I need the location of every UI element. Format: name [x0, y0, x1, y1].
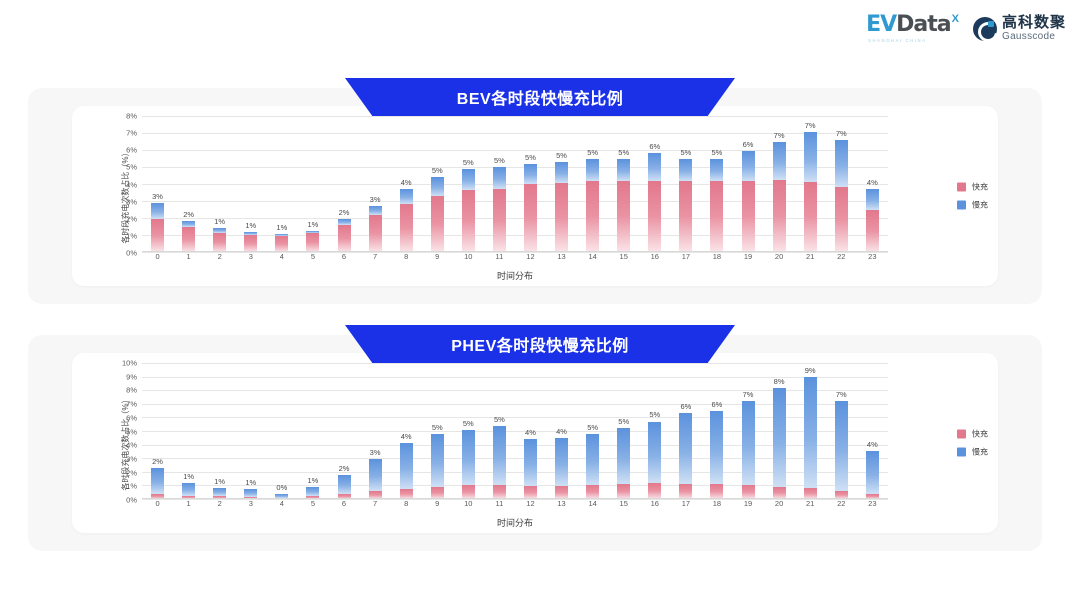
chart-1-bar-column[interactable]: 5% [670, 116, 701, 252]
chart-1-bar-value-label: 4% [867, 178, 878, 187]
chart-1-card: 各时段充电次数占比（%） 0%1%2%3%4%5%6%7%8% 3%2%1%1%… [72, 106, 998, 286]
chart-1-segment-slow-charge[interactable] [835, 140, 848, 187]
chart-1-stacked-bar[interactable]: 3% [369, 206, 382, 252]
chart-1-y-tick: 3% [126, 197, 137, 206]
chart-1-bar-value-label: 5% [463, 158, 474, 167]
chart-1-segment-slow-charge[interactable] [493, 167, 506, 189]
chart-1-stacked-bar[interactable]: 5% [586, 159, 599, 252]
chart-2-stacked-bar[interactable]: 1% [182, 483, 195, 499]
chart-1-bar-value-label: 5% [525, 153, 536, 162]
chart-2-stacked-bar[interactable]: 4% [524, 439, 537, 499]
chart-1-bar-value-label: 3% [152, 192, 163, 201]
chart-1-y-tick: 1% [126, 231, 137, 240]
chart-2: 各时段充电次数占比（%） 0%1%2%3%4%5%6%7%8%9%10% 2%1… [72, 353, 998, 533]
chart-2-stacked-bar[interactable]: 7% [742, 401, 755, 499]
chart-1-x-tick: 3 [235, 252, 266, 264]
chart-1-bar-value-label: 2% [339, 208, 350, 217]
chart-2-bar-column[interactable]: 1% [297, 363, 328, 499]
chart-2-stacked-bar[interactable]: 5% [648, 421, 661, 499]
chart-1-segment-slow-charge[interactable] [773, 142, 786, 180]
chart-2-segment-slow-charge[interactable] [338, 475, 351, 494]
chart-2-bar-column[interactable]: 1% [235, 363, 266, 499]
chart-1-segment-slow-charge[interactable] [679, 159, 692, 181]
chart-2-legend-label: 快充 [972, 429, 988, 440]
chart-2-y-tick: 7% [126, 400, 137, 409]
chart-2-x-tick: 16 [639, 499, 670, 511]
chart-2-legend-item[interactable]: 快充 [957, 429, 988, 440]
chart-1-segment-fast-charge[interactable] [275, 236, 288, 252]
chart-1-x-tick: 8 [391, 252, 422, 264]
chart-2-y-tick: 5% [126, 427, 137, 436]
chart-1-segment-fast-charge[interactable] [835, 187, 848, 252]
chart-2-y-tick: 3% [126, 454, 137, 463]
chart-1-bar-value-label: 1% [245, 221, 256, 230]
chart-2-segment-slow-charge[interactable] [244, 489, 257, 497]
chart-2-bar-value-label: 4% [556, 427, 567, 436]
chart-1-segment-fast-charge[interactable] [648, 181, 661, 252]
chart-1-bar-column[interactable]: 5% [484, 116, 515, 252]
chart-1-stacked-bar[interactable]: 5% [710, 159, 723, 253]
chart-1-bar-column[interactable]: 6% [639, 116, 670, 252]
chart-1-bar-column[interactable]: 3% [360, 116, 391, 252]
evdata-logo-row: EVData X [866, 14, 959, 36]
chart-2-title-banner: PHEV各时段快慢充比例 [345, 325, 735, 363]
chart-2-bar-value-label: 2% [339, 464, 350, 473]
chart-1-bar-value-label: 7% [836, 129, 847, 138]
chart-2-bar-column[interactable]: 1% [173, 363, 204, 499]
chart-1-bar-column[interactable]: 3% [142, 116, 173, 252]
chart-2-bar-value-label: 1% [245, 478, 256, 487]
chart-2-x-tick: 11 [484, 499, 515, 511]
chart-2-x-tick: 19 [732, 499, 763, 511]
chart-1-x-tick: 19 [732, 252, 763, 264]
chart-1-bar-value-label: 6% [649, 142, 660, 151]
chart-2-segment-slow-charge[interactable] [524, 439, 537, 486]
chart-2-segment-slow-charge[interactable] [586, 434, 599, 486]
gausscode-logo: 高科数聚 Gausscode [973, 15, 1066, 42]
chart-2-bar-value-label: 1% [214, 477, 225, 486]
chart-1-x-tick: 15 [608, 252, 639, 264]
chart-1-bar-value-label: 1% [214, 217, 225, 226]
chart-1-segment-fast-charge[interactable] [866, 210, 879, 252]
chart-2-bar-column[interactable]: 5% [453, 363, 484, 499]
chart-2-bars: 2%1%1%1%0%1%2%3%4%5%5%5%4%4%5%5%5%6%6%7%… [142, 363, 888, 499]
chart-1-segment-fast-charge[interactable] [338, 225, 351, 252]
chart-1-segment-slow-charge[interactable] [400, 189, 413, 203]
chart-2-segment-fast-charge[interactable] [617, 484, 630, 499]
chart-1-y-tick: 8% [126, 112, 137, 121]
chart-2-y-tick: 2% [126, 468, 137, 477]
chart-2-x-axis-title: 时间分布 [142, 516, 888, 529]
chart-1-stacked-bar[interactable]: 2% [182, 221, 195, 252]
chart-2-stacked-bar[interactable]: 9% [804, 377, 817, 499]
chart-2-y-tick: 8% [126, 386, 137, 395]
chart-2-stacked-bar[interactable]: 5% [431, 434, 444, 499]
chart-2-bar-value-label: 4% [525, 428, 536, 437]
chart-1-y-tick: 2% [126, 214, 137, 223]
gausscode-name-cn: 高科数聚 [1002, 15, 1066, 30]
chart-1-x-tick: 0 [142, 252, 173, 264]
chart-1-segment-slow-charge[interactable] [369, 206, 382, 215]
chart-2-stacked-bar[interactable]: 4% [555, 438, 568, 499]
chart-2-x-tick: 2 [204, 499, 235, 511]
chart-2-x-tick: 21 [795, 499, 826, 511]
evdata-x-icon: X [952, 14, 959, 24]
chart-2-segment-slow-charge[interactable] [866, 451, 879, 495]
page-header: EVData X SHANGHAI CHINA 高科数聚 Gausscode [0, 0, 1080, 62]
chart-1-bar-column[interactable]: 1% [204, 116, 235, 252]
chart-1-stacked-bar[interactable]: 5% [493, 167, 506, 252]
slide-page: EVData X SHANGHAI CHINA 高科数聚 Gausscode B… [0, 0, 1080, 608]
chart-1-panel: 各时段充电次数占比（%） 0%1%2%3%4%5%6%7%8% 3%2%1%1%… [28, 88, 1042, 304]
chart-1-segment-fast-charge[interactable] [306, 233, 319, 252]
chart-1-y-tick: 5% [126, 163, 137, 172]
chart-1-segment-fast-charge[interactable] [462, 190, 475, 252]
chart-1-legend-label: 快充 [972, 182, 988, 193]
chart-1-segment-fast-charge[interactable] [182, 227, 195, 252]
chart-1-stacked-bar[interactable]: 7% [773, 142, 786, 253]
chart-1-bar-column[interactable]: 6% [732, 116, 763, 252]
chart-1-x-tick: 20 [764, 252, 795, 264]
chart-1-x-tick: 17 [670, 252, 701, 264]
chart-1-segment-fast-charge[interactable] [773, 180, 786, 252]
chart-1-bar-column[interactable]: 5% [608, 116, 639, 252]
chart-2-bar-value-label: 0% [276, 483, 287, 492]
chart-2-bar-column[interactable]: 5% [422, 363, 453, 499]
chart-1-segment-slow-charge[interactable] [648, 153, 661, 180]
chart-1-bar-value-label: 5% [556, 151, 567, 160]
chart-1-stacked-bar[interactable]: 5% [431, 177, 444, 252]
chart-2-x-tick: 17 [670, 499, 701, 511]
chart-1-segment-fast-charge[interactable] [244, 235, 257, 252]
chart-1-x-tick: 13 [546, 252, 577, 264]
chart-2-stacked-bar[interactable]: 5% [493, 426, 506, 499]
chart-2-bar-value-label: 1% [308, 476, 319, 485]
chart-2-segment-slow-charge[interactable] [182, 483, 195, 496]
chart-1-bar-column[interactable]: 5% [701, 116, 732, 252]
chart-1-x-tick: 9 [422, 252, 453, 264]
chart-1-segment-fast-charge[interactable] [400, 204, 413, 252]
chart-1-stacked-bar[interactable]: 6% [742, 151, 755, 252]
chart-1-stacked-bar[interactable]: 7% [835, 140, 848, 252]
legend-swatch-icon [957, 430, 966, 439]
chart-1-segment-fast-charge[interactable] [524, 184, 537, 252]
chart-2-bar-value-label: 1% [183, 472, 194, 481]
chart-2-bar-value-label: 5% [432, 423, 443, 432]
chart-2-x-tick: 7 [360, 499, 391, 511]
chart-1-bar-value-label: 5% [587, 148, 598, 157]
chart-2-stacked-bar[interactable]: 5% [617, 428, 630, 499]
chart-2-legend-label: 慢充 [972, 447, 988, 458]
chart-1-segment-fast-charge[interactable] [369, 215, 382, 252]
chart-2-x-axis-ticks: 01234567891011121314151617181920212223 [142, 499, 888, 511]
chart-1-y-tick: 7% [126, 129, 137, 138]
chart-2-stacked-bar[interactable]: 4% [400, 443, 413, 499]
chart-1-bar-value-label: 6% [743, 140, 754, 149]
chart-2-segment-slow-charge[interactable] [306, 487, 319, 496]
chart-1-bar-column[interactable]: 1% [266, 116, 297, 252]
chart-2-y-tick: 0% [126, 496, 137, 505]
chart-2-stacked-bar[interactable]: 6% [679, 413, 692, 499]
chart-1-segment-slow-charge[interactable] [710, 159, 723, 181]
legend-swatch-icon [957, 201, 966, 210]
chart-1-bar-column[interactable]: 5% [577, 116, 608, 252]
chart-1-segment-slow-charge[interactable] [555, 162, 568, 183]
chart-1-title-banner: BEV各时段快慢充比例 [345, 78, 735, 116]
chart-2-panel: 各时段充电次数占比（%） 0%1%2%3%4%5%6%7%8%9%10% 2%1… [28, 335, 1042, 551]
chart-1-legend-item[interactable]: 慢充 [957, 200, 988, 211]
chart-2-segment-slow-charge[interactable] [493, 426, 506, 485]
chart-1-bar-value-label: 5% [618, 148, 629, 157]
chart-2-segment-fast-charge[interactable] [710, 484, 723, 499]
chart-1-segment-fast-charge[interactable] [804, 182, 817, 252]
evdata-logo: EVData X SHANGHAI CHINA [866, 14, 959, 43]
chart-1-y-tick: 4% [126, 180, 137, 189]
chart-2-stacked-bar[interactable]: 7% [835, 401, 848, 499]
chart-2-segment-fast-charge[interactable] [648, 483, 661, 499]
chart-2-bar-column[interactable]: 5% [608, 363, 639, 499]
chart-1-bar-value-label: 5% [494, 156, 505, 165]
chart-2-segment-slow-charge[interactable] [710, 411, 723, 484]
legend-swatch-icon [957, 183, 966, 192]
chart-1-bar-value-label: 5% [680, 148, 691, 157]
chart-1-x-tick: 14 [577, 252, 608, 264]
chart-2-bar-value-label: 5% [463, 419, 474, 428]
evdata-wordmark-prefix: EV [866, 12, 896, 37]
chart-1-stacked-bar[interactable]: 5% [555, 162, 568, 252]
chart-2-x-tick: 4 [266, 499, 297, 511]
chart-1-stacked-bar[interactable]: 5% [462, 169, 475, 252]
chart-1-bar-column[interactable]: 7% [826, 116, 857, 252]
chart-1-bar-column[interactable]: 2% [328, 116, 359, 252]
chart-1-y-tick: 0% [126, 249, 137, 258]
chart-2-bar-column[interactable]: 9% [795, 363, 826, 499]
chart-1-stacked-bar[interactable]: 7% [804, 132, 817, 252]
chart-2-bar-value-label: 4% [867, 440, 878, 449]
chart-1-stacked-bar[interactable]: 1% [275, 234, 288, 252]
chart-2-bar-column[interactable]: 7% [732, 363, 763, 499]
chart-2-bar-value-label: 8% [774, 377, 785, 386]
chart-2-segment-slow-charge[interactable] [742, 401, 755, 485]
chart-2-stacked-bar[interactable]: 5% [462, 430, 475, 499]
evdata-wordmark: EVData [866, 14, 951, 36]
chart-2-bar-column[interactable]: 4% [857, 363, 888, 499]
chart-1-segment-slow-charge[interactable] [151, 203, 164, 219]
chart-1-x-tick: 16 [639, 252, 670, 264]
chart-1-bar-value-label: 4% [401, 178, 412, 187]
chart-1-segment-slow-charge[interactable] [462, 169, 475, 190]
chart-2-x-tick: 23 [857, 499, 888, 511]
chart-1-segment-slow-charge[interactable] [866, 189, 879, 210]
chart-2-x-tick: 10 [453, 499, 484, 511]
chart-2-segment-slow-charge[interactable] [213, 488, 226, 496]
chart-1-bar-column[interactable]: 4% [391, 116, 422, 252]
chart-2-x-tick: 6 [328, 499, 359, 511]
chart-2-bar-column[interactable]: 4% [391, 363, 422, 499]
chart-2-bar-column[interactable]: 5% [639, 363, 670, 499]
chart-2-stacked-bar[interactable]: 2% [151, 468, 164, 499]
chart-1-segment-slow-charge[interactable] [742, 151, 755, 181]
chart-1-segment-slow-charge[interactable] [431, 177, 444, 196]
chart-1-bar-column[interactable]: 4% [857, 116, 888, 252]
chart-1-segment-fast-charge[interactable] [213, 233, 226, 252]
chart-2-stacked-bar[interactable]: 4% [866, 451, 879, 499]
chart-2-bar-column[interactable]: 8% [764, 363, 795, 499]
chart-2-segment-slow-charge[interactable] [555, 438, 568, 486]
chart-2-bar-column[interactable]: 1% [204, 363, 235, 499]
chart-2-card: 各时段充电次数占比（%） 0%1%2%3%4%5%6%7%8%9%10% 2%1… [72, 353, 998, 533]
chart-2-plot-area: 0%1%2%3%4%5%6%7%8%9%10% 2%1%1%1%0%1%2%3%… [142, 363, 888, 499]
chart-1-x-tick: 1 [173, 252, 204, 264]
chart-1-bar-value-label: 3% [370, 195, 381, 204]
chart-2-x-tick: 22 [826, 499, 857, 511]
chart-2-segment-slow-charge[interactable] [679, 413, 692, 484]
chart-2-stacked-bar[interactable]: 5% [586, 434, 599, 499]
chart-2-x-tick: 14 [577, 499, 608, 511]
chart-1-segment-slow-charge[interactable] [617, 159, 630, 182]
chart-1-stacked-bar[interactable]: 1% [244, 232, 257, 252]
chart-1-x-tick: 6 [328, 252, 359, 264]
chart-1-x-tick: 4 [266, 252, 297, 264]
chart-2-y-tick: 4% [126, 441, 137, 450]
chart-1-bar-column[interactable]: 7% [764, 116, 795, 252]
chart-2-bar-column[interactable]: 5% [484, 363, 515, 499]
chart-2-x-tick: 20 [764, 499, 795, 511]
chart-1-segment-fast-charge[interactable] [151, 219, 164, 252]
chart-2-bar-column[interactable]: 0% [266, 363, 297, 499]
chart-1-bar-value-label: 1% [308, 220, 319, 229]
chart-2-segment-slow-charge[interactable] [369, 459, 382, 491]
chart-2-bar-column[interactable]: 6% [670, 363, 701, 499]
chart-1-stacked-bar[interactable]: 2% [338, 219, 351, 252]
chart-1-x-tick: 7 [360, 252, 391, 264]
chart-2-bar-column[interactable]: 4% [546, 363, 577, 499]
chart-2-segment-slow-charge[interactable] [773, 388, 786, 487]
chart-1-segment-fast-charge[interactable] [617, 181, 630, 252]
chart-1-bar-value-label: 1% [276, 223, 287, 232]
chart-1-y-tick: 6% [126, 146, 137, 155]
chart-2-x-tick: 0 [142, 499, 173, 511]
chart-1-stacked-bar[interactable]: 5% [524, 164, 537, 252]
chart-2-segment-slow-charge[interactable] [648, 422, 661, 484]
chart-1: 各时段充电次数占比（%） 0%1%2%3%4%5%6%7%8% 3%2%1%1%… [72, 106, 998, 286]
chart-1-bar-column[interactable]: 2% [173, 116, 204, 252]
chart-1-segment-slow-charge[interactable] [586, 159, 599, 181]
chart-2-segment-fast-charge[interactable] [679, 484, 692, 499]
chart-2-stacked-bar[interactable]: 3% [369, 459, 382, 499]
chart-1-stacked-bar[interactable]: 1% [213, 228, 226, 252]
chart-2-x-tick: 18 [701, 499, 732, 511]
chart-1-segment-slow-charge[interactable] [804, 132, 817, 182]
chart-1-legend-item[interactable]: 快充 [957, 182, 988, 193]
chart-2-bar-column[interactable]: 4% [515, 363, 546, 499]
chart-1-stacked-bar[interactable]: 1% [306, 231, 319, 252]
chart-2-segment-fast-charge[interactable] [742, 485, 755, 499]
chart-2-bar-column[interactable]: 2% [328, 363, 359, 499]
chart-2-segment-slow-charge[interactable] [804, 377, 817, 488]
chart-2-bar-column[interactable]: 6% [701, 363, 732, 499]
chart-2-segment-fast-charge[interactable] [462, 485, 475, 499]
chart-1-segment-fast-charge[interactable] [493, 189, 506, 252]
evdata-logo-subtitle: SHANGHAI CHINA [866, 38, 926, 43]
chart-1-bar-column[interactable]: 5% [453, 116, 484, 252]
chart-1-stacked-bar[interactable]: 5% [617, 159, 630, 253]
chart-1-segment-fast-charge[interactable] [586, 181, 599, 252]
chart-1-x-tick: 23 [857, 252, 888, 264]
chart-2-stacked-bar[interactable]: 2% [338, 475, 351, 499]
chart-1-segment-fast-charge[interactable] [742, 181, 755, 252]
chart-2-segment-slow-charge[interactable] [151, 468, 164, 494]
chart-1-segment-fast-charge[interactable] [555, 183, 568, 252]
chart-1-plot-area: 0%1%2%3%4%5%6%7%8% 3%2%1%1%1%1%2%3%4%5%5… [142, 116, 888, 252]
chart-1-bar-column[interactable]: 5% [546, 116, 577, 252]
chart-2-bar-column[interactable]: 2% [142, 363, 173, 499]
chart-1-segment-slow-charge[interactable] [182, 221, 195, 228]
chart-1-bar-column[interactable]: 5% [422, 116, 453, 252]
chart-1-x-axis-title: 时间分布 [142, 269, 888, 282]
chart-2-x-tick: 15 [608, 499, 639, 511]
chart-1-stacked-bar[interactable]: 3% [151, 203, 164, 252]
chart-2-x-tick: 12 [515, 499, 546, 511]
chart-2-stacked-bar[interactable]: 6% [710, 411, 723, 499]
chart-1-segment-fast-charge[interactable] [431, 196, 444, 252]
chart-1-x-tick: 18 [701, 252, 732, 264]
chart-2-bar-value-label: 3% [370, 448, 381, 457]
chart-2-segment-slow-charge[interactable] [400, 443, 413, 489]
chart-1-segment-slow-charge[interactable] [524, 164, 537, 184]
chart-1-segment-fast-charge[interactable] [710, 181, 723, 252]
chart-1-stacked-bar[interactable]: 4% [866, 189, 879, 252]
chart-2-x-tick: 3 [235, 499, 266, 511]
chart-2-bar-value-label: 4% [401, 432, 412, 441]
chart-2-segment-slow-charge[interactable] [835, 401, 848, 491]
chart-2-bar-column[interactable]: 7% [826, 363, 857, 499]
chart-2-segment-slow-charge[interactable] [462, 430, 475, 486]
chart-1-bar-column[interactable]: 1% [297, 116, 328, 252]
chart-2-segment-slow-charge[interactable] [431, 434, 444, 487]
chart-1-stacked-bar[interactable]: 6% [648, 153, 661, 252]
chart-2-bar-value-label: 7% [743, 390, 754, 399]
gauss-mark-icon [973, 17, 997, 41]
chart-2-stacked-bar[interactable]: 8% [773, 388, 786, 499]
chart-1-stacked-bar[interactable]: 4% [400, 189, 413, 252]
chart-2-x-tick: 5 [297, 499, 328, 511]
chart-2-segment-slow-charge[interactable] [617, 428, 630, 484]
chart-1-bar-column[interactable]: 1% [235, 116, 266, 252]
chart-2-legend-item[interactable]: 慢充 [957, 447, 988, 458]
chart-1-bar-column[interactable]: 5% [515, 116, 546, 252]
chart-1-legend-label: 慢充 [972, 200, 988, 211]
chart-2-bar-value-label: 5% [587, 423, 598, 432]
chart-1-x-tick: 2 [204, 252, 235, 264]
chart-2-segment-fast-charge[interactable] [586, 485, 599, 499]
chart-2-bar-value-label: 5% [649, 410, 660, 419]
chart-2-bar-column[interactable]: 5% [577, 363, 608, 499]
chart-1-stacked-bar[interactable]: 5% [679, 159, 692, 253]
chart-2-x-tick: 9 [422, 499, 453, 511]
chart-1-bar-value-label: 2% [183, 210, 194, 219]
logo-group: EVData X SHANGHAI CHINA 高科数聚 Gausscode [866, 14, 1066, 43]
gausscode-name-en: Gausscode [1002, 32, 1066, 42]
chart-2-segment-fast-charge[interactable] [493, 485, 506, 499]
chart-2-bar-value-label: 5% [618, 417, 629, 426]
gausscode-text: 高科数聚 Gausscode [1002, 15, 1066, 42]
chart-1-bar-column[interactable]: 7% [795, 116, 826, 252]
chart-2-legend: 快充慢充 [957, 429, 988, 458]
chart-1-segment-fast-charge[interactable] [679, 181, 692, 252]
chart-1-bar-value-label: 5% [432, 166, 443, 175]
chart-2-bar-column[interactable]: 3% [360, 363, 391, 499]
